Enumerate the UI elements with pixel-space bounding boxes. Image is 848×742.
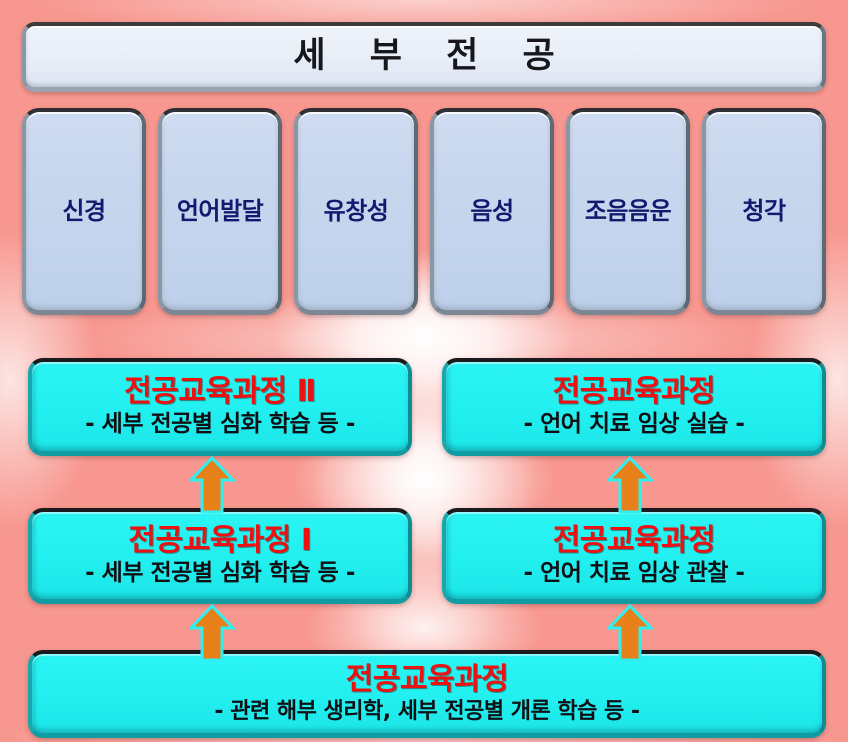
specialty-box-neuro[interactable]: 신경 — [22, 108, 146, 315]
curriculum-box-base[interactable]: 전공교육과정 - 관련 해부 생리학, 세부 전공별 개론 학습 등 - — [28, 650, 826, 738]
curriculum-box-clinical-observation[interactable]: 전공교육과정 - 언어 치료 임상 관찰 - — [442, 508, 826, 604]
curriculum-title: 전공교육과정 — [346, 663, 509, 697]
curriculum-subtitle: - 관련 해부 생리학, 세부 전공별 개론 학습 등 - — [214, 699, 639, 724]
specialty-box-hearing[interactable]: 청각 — [702, 108, 826, 315]
specialty-label: 청각 — [742, 199, 785, 223]
curriculum-title: 전공교육과정 Ⅰ — [128, 524, 311, 558]
specialty-row: 신경 언어발달 유창성 음성 조음음운 청각 — [22, 108, 826, 315]
specialty-box-language-development[interactable]: 언어발달 — [158, 108, 282, 315]
curriculum-diagram: 세 부 전 공 신경 언어발달 유창성 음성 조음음운 청각 전공교육과정 Ⅱ … — [0, 0, 848, 742]
specialty-label: 조음음운 — [585, 199, 671, 223]
up-arrow-icon — [607, 456, 653, 514]
up-arrow-icon — [189, 604, 235, 662]
curriculum-subtitle: - 세부 전공별 심화 학습 등 - — [85, 411, 355, 437]
up-arrow-icon — [607, 604, 653, 662]
curriculum-title: 전공교육과정 — [553, 375, 716, 409]
curriculum-subtitle: - 세부 전공별 심화 학습 등 - — [85, 560, 355, 586]
curriculum-title: 전공교육과정 — [553, 524, 716, 558]
curriculum-box-clinical-practice[interactable]: 전공교육과정 - 언어 치료 임상 실습 - — [442, 358, 826, 456]
specialty-box-fluency[interactable]: 유창성 — [294, 108, 418, 315]
specialty-label: 신경 — [62, 199, 105, 223]
specialty-label: 유창성 — [324, 199, 389, 223]
curriculum-subtitle: - 언어 치료 임상 관찰 - — [524, 560, 745, 586]
specialty-label: 언어발달 — [177, 199, 263, 223]
curriculum-title: 전공교육과정 Ⅱ — [124, 375, 316, 409]
header-box: 세 부 전 공 — [22, 22, 826, 92]
specialty-box-voice[interactable]: 음성 — [430, 108, 554, 315]
curriculum-subtitle: - 언어 치료 임상 실습 - — [524, 411, 745, 437]
curriculum-box-major1[interactable]: 전공교육과정 Ⅰ - 세부 전공별 심화 학습 등 - — [28, 508, 412, 604]
specialty-label: 음성 — [470, 199, 513, 223]
up-arrow-icon — [189, 456, 235, 514]
specialty-box-articulation-phonology[interactable]: 조음음운 — [566, 108, 690, 315]
curriculum-box-major2[interactable]: 전공교육과정 Ⅱ - 세부 전공별 심화 학습 등 - — [28, 358, 412, 456]
page-title: 세 부 전 공 — [277, 39, 570, 74]
